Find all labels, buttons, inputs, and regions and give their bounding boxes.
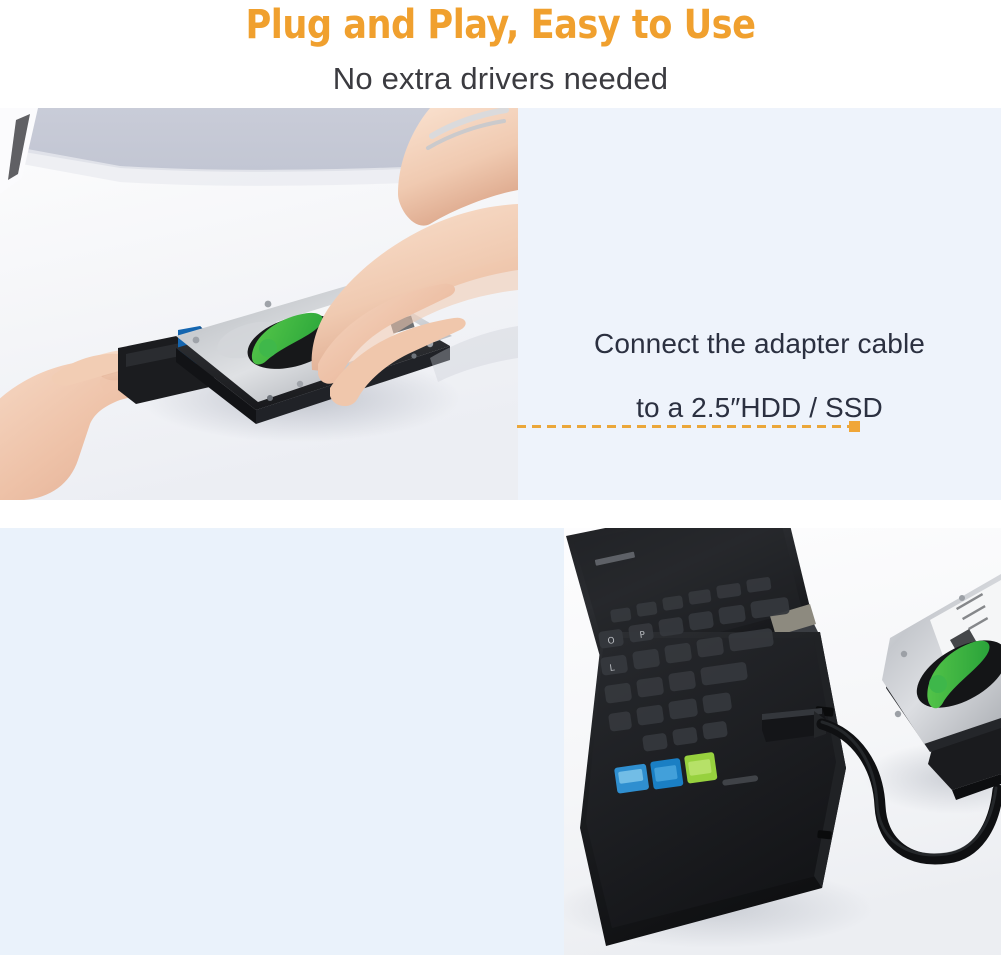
step-1-connector-marker-square bbox=[849, 421, 860, 432]
page-subtitle: No extra drivers needed bbox=[0, 60, 1001, 98]
step-2-text-block bbox=[0, 528, 564, 955]
photo-hands-connecting-sata-adapter-to-hdd bbox=[0, 108, 518, 500]
step-1-caption-line-1: Connect the adapter cable bbox=[518, 326, 1001, 362]
step-1-caption-line-2: to a 2.5″HDD / SSD bbox=[518, 390, 1001, 426]
step-panel-2: Connect the USB 3.0 connector to a USB A… bbox=[0, 528, 1001, 955]
photo-usb-cable-plugged-into-laptop: O P L bbox=[564, 528, 1001, 955]
step-panel-1: Connect the adapter cable to a 2.5″HDD /… bbox=[0, 108, 1001, 500]
step-1-text-block: Connect the adapter cable to a 2.5″HDD /… bbox=[518, 108, 1001, 500]
page-title: Plug and Play, Easy to Use bbox=[60, 1, 941, 49]
section-divider bbox=[0, 500, 1001, 528]
header-banner: Plug and Play, Easy to Use No extra driv… bbox=[0, 0, 1001, 108]
step-1-connector-dashed-line bbox=[517, 425, 849, 428]
svg-text:O: O bbox=[607, 636, 615, 647]
